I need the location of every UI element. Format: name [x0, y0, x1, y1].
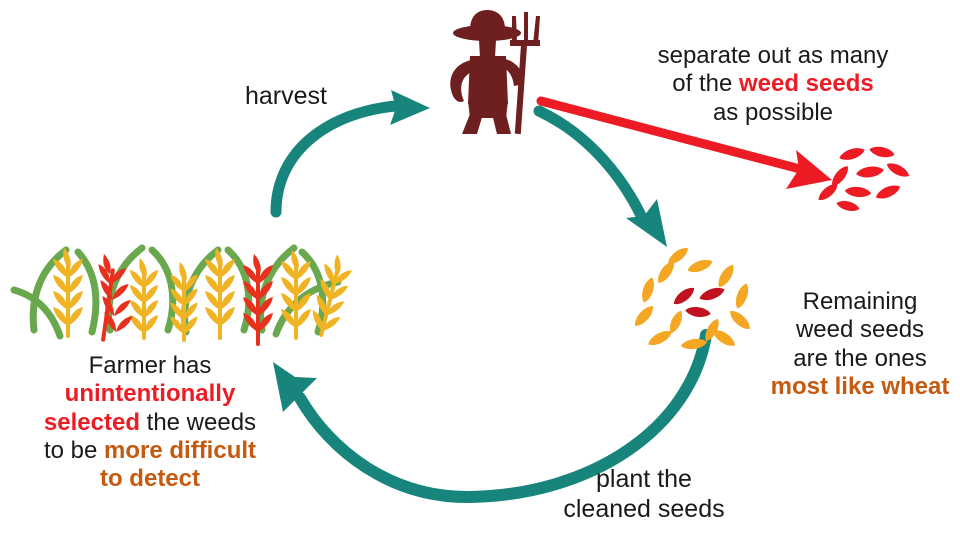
label-farmer-line4-pre: to be — [44, 437, 104, 464]
label-separate-line3: as possible — [640, 99, 906, 127]
diagram-canvas: harvest separate out as many of the weed… — [0, 0, 960, 540]
label-harvest: harvest — [245, 82, 327, 112]
label-remaining-line1: Remaining — [760, 288, 960, 316]
label-remaining: Remaining weed seeds are the ones most l… — [760, 288, 960, 401]
label-separate-weed-seeds: weed seeds — [739, 70, 874, 97]
wheat-field — [14, 248, 355, 346]
wheat-ear-weed — [243, 254, 273, 346]
cleaned-seed-cluster — [631, 245, 753, 351]
label-separate: separate out as many of the weed seeds a… — [640, 42, 906, 127]
label-farmer-line4: to be more difficult — [34, 437, 266, 465]
wheat-ear — [205, 248, 235, 340]
label-plant-line2: cleaned seeds — [556, 495, 732, 525]
label-remaining-line3: are the ones — [760, 345, 960, 373]
label-separate-line2: of the weed seeds — [640, 70, 906, 98]
label-farmer-line3-rest: the weeds — [140, 409, 256, 436]
label-farmer-to-detect: to detect — [34, 465, 266, 493]
label-farmer-selected: selected — [44, 409, 140, 436]
wheat-ear — [130, 258, 159, 340]
label-farmer-more-difficult: more difficult — [104, 437, 256, 464]
wheat-ear — [281, 250, 311, 340]
label-plant: plant the cleaned seeds — [556, 465, 732, 524]
label-remaining-line2: weed seeds — [760, 316, 960, 344]
label-plant-line1: plant the — [556, 465, 732, 495]
label-farmer-selection: Farmer has unintentionally selected the … — [34, 352, 266, 494]
label-farmer-line1: Farmer has — [34, 352, 266, 380]
farmer-figure — [450, 10, 540, 134]
label-separate-line2-pre: of the — [672, 70, 739, 97]
label-remaining-most-like-wheat: most like wheat — [760, 373, 960, 401]
label-farmer-line3: selected the weeds — [34, 409, 266, 437]
label-separate-line1: separate out as many — [640, 42, 906, 70]
label-farmer-unintentionally: unintentionally — [34, 380, 266, 408]
